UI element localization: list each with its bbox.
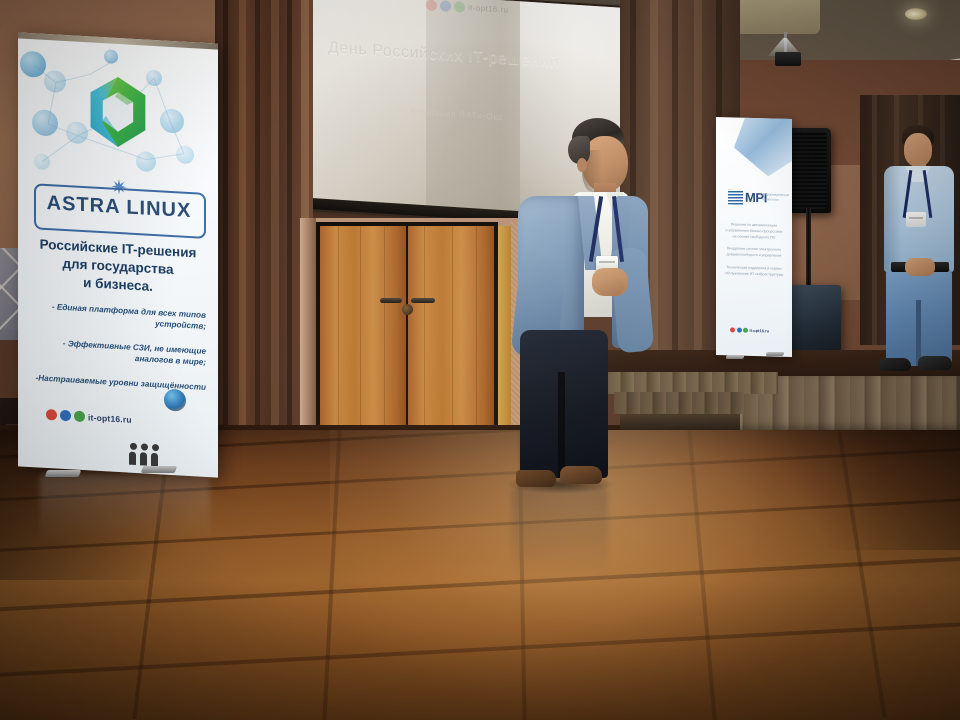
door-lock-icon (402, 304, 413, 315)
astra-banner-feet (46, 466, 196, 482)
attendee-shirt-shadow (884, 166, 902, 272)
mpi-tagline: Информационные технологии (762, 192, 788, 202)
presenter-shoe-right (560, 466, 602, 484)
presenter-leg-gap (558, 372, 565, 478)
mpi-banner-feet (726, 352, 786, 362)
mpi-body: Решения по автоматизации и управлению би… (724, 221, 784, 277)
astra-hex-logo-icon (80, 72, 156, 152)
presenter-shoe-left (516, 470, 556, 487)
pa-speaker (788, 128, 831, 213)
mpi-footer-icon-blue (737, 328, 742, 333)
astra-bullet-2: - Эффективные СЗИ, не имеющие аналогов в… (34, 337, 206, 368)
projected-slide: it-opt16.ru День Российских IT-решений К… (306, 0, 630, 220)
globe-icon (164, 389, 186, 412)
presenter-floor-reflection (512, 484, 608, 580)
mpi-footer-icon-red (730, 327, 735, 332)
double-doors[interactable] (316, 222, 498, 444)
subwoofer-box (786, 285, 841, 355)
banner-floor-reflection (40, 474, 210, 542)
presenter-hands-front (598, 276, 624, 296)
mpi-banner: MPI Информационные технологии Решения по… (716, 117, 792, 357)
attendee-shoe-right (918, 356, 952, 370)
attendee-hands (905, 258, 935, 276)
stage-step-upper (608, 372, 778, 394)
footer-icon-red (46, 409, 57, 421)
astra-footer: it-opt16.ru (46, 409, 132, 425)
door-right[interactable] (408, 226, 494, 440)
ceiling-spotlight-icon (905, 8, 927, 20)
wall-edge-strip (300, 218, 316, 453)
footer-icon-green (74, 411, 85, 423)
mpi-header-graphic (734, 117, 792, 177)
footer-icon-blue (60, 410, 71, 422)
people-icon (128, 443, 162, 467)
attendee-badge (906, 212, 926, 227)
stage-step-edge (620, 414, 740, 430)
door-handle-right[interactable] (411, 298, 435, 303)
astra-bullet-1: - Единая платформа для всех типов устрой… (34, 301, 206, 332)
curtain-left (215, 0, 313, 452)
astra-footer-url: it-opt16.ru (88, 412, 132, 424)
mpi-footer-url: it-opt16.ru (750, 328, 770, 334)
stage-step-lower (614, 392, 744, 414)
mpi-mark-icon (728, 189, 743, 204)
presenter-ear (577, 158, 587, 172)
door-handle-left[interactable] (380, 298, 402, 303)
projector (775, 52, 801, 66)
door-left[interactable] (320, 226, 406, 440)
conference-photo: it-opt16.ru День Российских IT-решений К… (0, 0, 960, 720)
speaker-stand-pole (806, 208, 811, 286)
door-jamb (498, 226, 511, 440)
mpi-footer: it-opt16.ru (730, 327, 769, 333)
astra-linux-banner: ✷ ASTRA LINUX Российские IT-решения для … (18, 32, 218, 477)
attendee-shoe-left (879, 358, 911, 371)
mpi-footer-icon-green (743, 328, 748, 333)
astra-headline: Российские IT-решения для государства и … (28, 235, 208, 299)
mpi-body-line-7: обслуживание ИТ инфраструктуры (724, 270, 784, 278)
